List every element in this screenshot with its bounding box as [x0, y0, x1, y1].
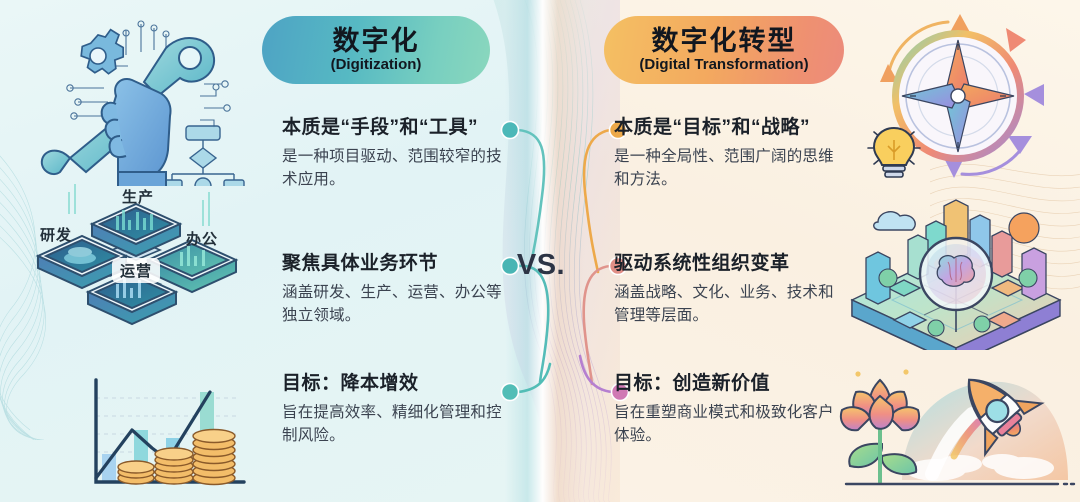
right-point-2-heading: 驱动系统性组织变革 [614, 248, 846, 275]
left-title-en: (Digitization) [331, 56, 422, 73]
left-title-zh: 数字化 [333, 27, 420, 55]
infographic-canvas: 生产 研发 办公 运营 [0, 0, 1080, 502]
right-point-2: 驱动系统性组织变革 涵盖战略、文化、业务、技术和管理等层面。 [614, 248, 846, 328]
right-title-pill: 数字化转型 (Digital Transformation) [604, 16, 844, 84]
compass-rose-lightbulb-illustration [836, 2, 1080, 182]
node-label-production: 生产 [122, 186, 154, 207]
right-point-3-body: 旨在重塑商业模式和极致化客户体验。 [614, 402, 846, 448]
left-point-3: 目标：降本增效 旨在提高效率、精细化管理和控制风险。 [282, 368, 514, 448]
left-title-pill: 数字化 (Digitization) [262, 16, 490, 84]
right-point-1-body: 是一种全局性、范围广阔的思维和方法。 [614, 146, 846, 192]
flower-rocket-launch-illustration [836, 352, 1080, 502]
left-point-2-body: 涵盖研发、生产、运营、办公等独立领域。 [282, 282, 514, 328]
versus-label: VS. [505, 245, 577, 285]
node-label-office: 办公 [186, 228, 218, 249]
left-point-1-body: 是一种项目驱动、范围较窄的技术应用。 [282, 146, 514, 192]
node-label-rd: 研发 [40, 224, 72, 245]
left-point-1-heading: 本质是“手段”和“工具” [282, 112, 514, 139]
left-point-2-heading: 聚焦具体业务环节 [282, 248, 514, 275]
right-title-zh: 数字化转型 [652, 27, 797, 55]
right-point-1: 本质是“目标”和“战略” 是一种全局性、范围广阔的思维和方法。 [614, 112, 846, 192]
right-point-3: 目标：创造新价值 旨在重塑商业模式和极致化客户体验。 [614, 368, 846, 448]
left-point-3-body: 旨在提高效率、精细化管理和控制风险。 [282, 402, 514, 448]
left-point-1: 本质是“手段”和“工具” 是一种项目驱动、范围较窄的技术应用。 [282, 112, 514, 192]
right-title-en: (Digital Transformation) [639, 56, 808, 73]
isometric-smart-city-ai-brain-illustration [832, 182, 1080, 350]
right-point-1-heading: 本质是“目标”和“战略” [614, 112, 846, 139]
right-point-3-heading: 目标：创造新价值 [614, 368, 846, 395]
node-label-operations: 运营 [112, 258, 160, 283]
growth-chart-coins-illustration [62, 362, 268, 502]
left-point-3-heading: 目标：降本增效 [282, 368, 514, 395]
right-point-2-body: 涵盖战略、文化、业务、技术和管理等层面。 [614, 282, 846, 328]
hand-wrench-gear-circuit-illustration [8, 0, 258, 186]
left-point-2: 聚焦具体业务环节 涵盖研发、生产、运营、办公等独立领域。 [282, 248, 514, 328]
